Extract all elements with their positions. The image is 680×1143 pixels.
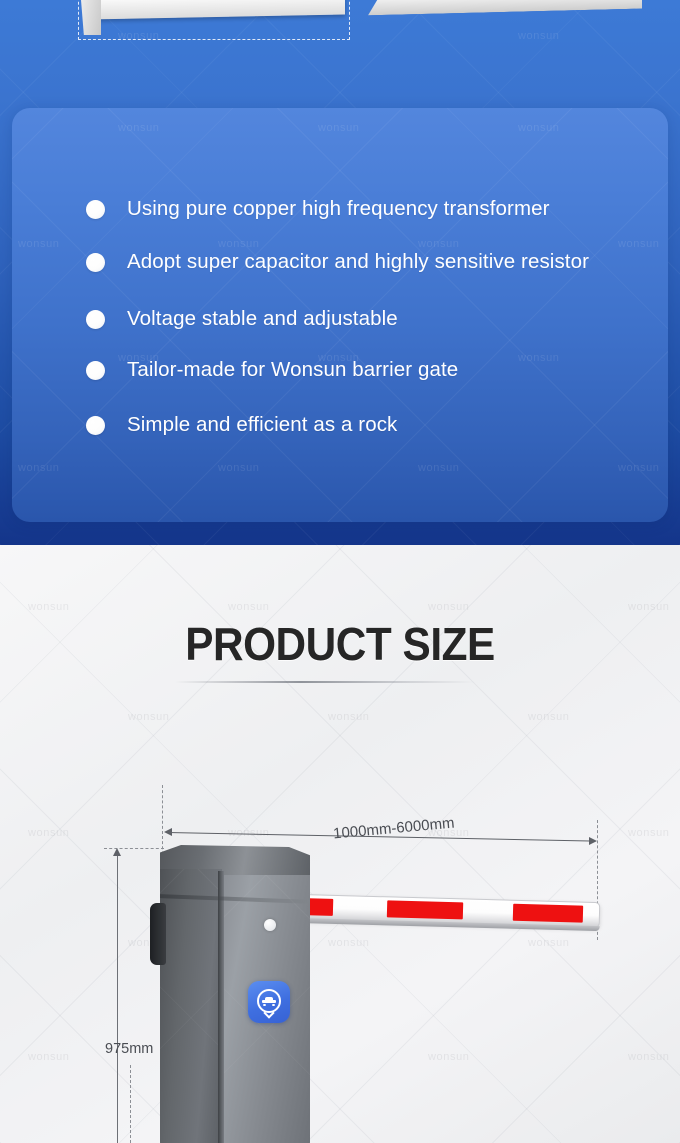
bullet-dot-icon: [86, 361, 105, 380]
led-indicator-icon: [264, 919, 276, 931]
parking-car-pin-icon: [248, 981, 290, 1023]
feature-list-card: wonsun wonsun wonsun wonsun wonsun wonsu…: [12, 108, 668, 522]
product-photo-row: QC PASS: [0, 0, 680, 50]
pcb-board-photo: [78, 0, 350, 40]
product-dimension-drawing: 1000mm-6000mm 975mm: [0, 545, 680, 1143]
side-sensor-module: [150, 903, 166, 965]
page-root: wonsun wonsun wonsun wonsun wonsun wonsu…: [0, 0, 680, 1143]
car-body: [262, 1000, 276, 1003]
car-glyph: [262, 997, 276, 1005]
dimension-line-height: [117, 853, 118, 1143]
dimension-label-height: 975mm: [105, 1041, 153, 1057]
car-wheel: [272, 1004, 275, 1006]
feature-bullet-label: Voltage stable and adjustable: [127, 307, 398, 331]
power-supply-base-flange: [368, 0, 642, 15]
bullet-dot-icon: [86, 253, 105, 272]
feature-bullet-list: Using pure copper high frequency transfo…: [12, 108, 668, 522]
product-size-section: wonsun wonsun wonsun wonsun wonsun wonsu…: [0, 545, 680, 1143]
barrier-gate-cabinet: [160, 845, 310, 1143]
power-supply-case-photo: QC PASS: [368, 0, 648, 32]
arrow-head-up: [113, 848, 121, 856]
arm-red-segment: [307, 898, 333, 916]
feature-bullet-label: Simple and efficient as a rock: [127, 413, 397, 437]
feature-bullet-label: Using pure copper high frequency transfo…: [127, 197, 550, 221]
feature-bullet-item: Tailor-made for Wonsun barrier gate: [86, 358, 458, 382]
arrow-head-right: [589, 837, 597, 845]
bullet-dot-icon: [86, 310, 105, 329]
cabinet-left-pattern: [160, 869, 222, 1143]
feature-bullet-item: Adopt super capacitor and highly sensiti…: [86, 250, 589, 274]
pcb-base-edge: [87, 0, 345, 19]
feature-bullet-item: Simple and efficient as a rock: [86, 413, 397, 437]
arm-red-segment: [513, 904, 583, 923]
barrier-arm: [300, 894, 601, 932]
arrow-head-left: [164, 828, 172, 836]
arm-red-segment: [387, 900, 463, 919]
feature-bullet-item: Voltage stable and adjustable: [86, 307, 398, 331]
feature-bullet-label: Tailor-made for Wonsun barrier gate: [127, 358, 458, 382]
pcb-side-wall: [79, 0, 101, 35]
feature-bullet-label: Adopt super capacitor and highly sensiti…: [127, 250, 589, 274]
features-blue-section: wonsun wonsun wonsun wonsun wonsun wonsu…: [0, 0, 680, 545]
guide-line-vertical-base: [130, 1065, 131, 1143]
car-wheel: [263, 1004, 266, 1006]
cabinet-left-face: [160, 869, 222, 1143]
bullet-dot-icon: [86, 200, 105, 219]
bullet-dot-icon: [86, 416, 105, 435]
cabinet-corner-edge: [218, 871, 224, 1143]
badge-inner-graphic: [255, 988, 283, 1016]
feature-bullet-item: Using pure copper high frequency transfo…: [86, 197, 550, 221]
